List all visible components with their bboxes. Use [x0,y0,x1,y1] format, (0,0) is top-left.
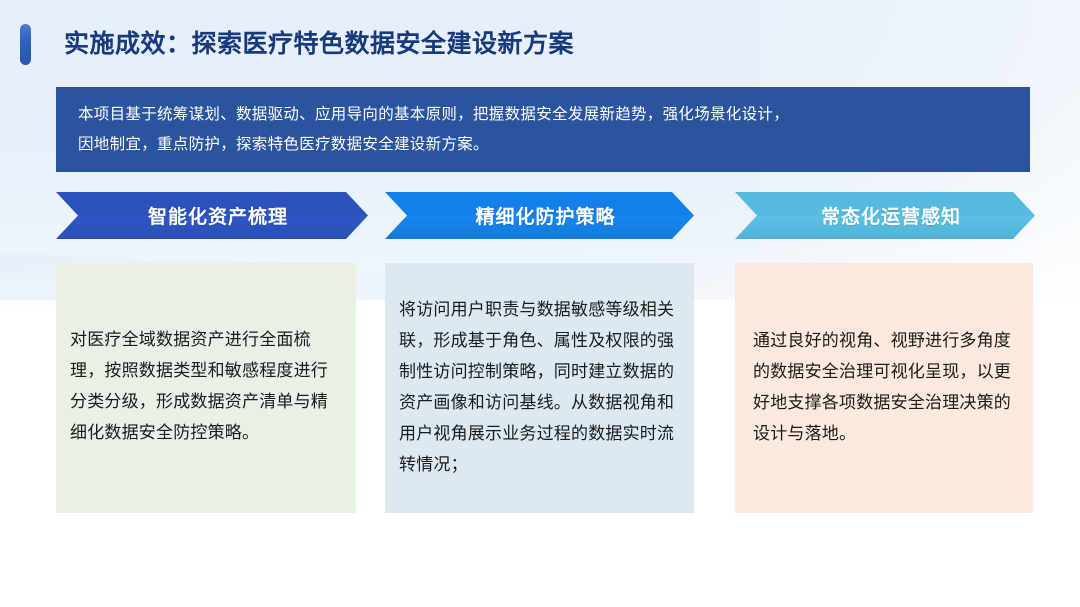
intro-banner-line-1: 本项目基于统筹谋划、数据驱动、应用导向的基本原则，把握数据安全发展新趋势，强化场… [78,100,1008,130]
pillar-chevron-asset-inventory[interactable]: 智能化资产梳理 [56,192,368,239]
pillar-chevron-label: 常态化运营感知 [821,202,961,229]
pillar-card-asset-inventory: 对医疗全域数据资产进行全面梳理，按照数据类型和敏感程度进行分类分级，形成数据资产… [56,263,356,513]
pillar-chevron-label: 智能化资产梳理 [148,202,288,229]
pillar-card-protection-strategy: 将访问用户职责与数据敏感等级相关联，形成基于角色、属性及权限的强制性访问控制策略… [385,263,694,513]
pillar-chevron-operations-awareness[interactable]: 常态化运营感知 [735,192,1035,239]
pillar-card-body: 通过良好的视角、视野进行多角度的数据安全治理可视化呈现，以更好地支撑各项数据安全… [753,325,1015,449]
pillar-card-body: 对医疗全域数据资产进行全面梳理，按照数据类型和敏感程度进行分类分级，形成数据资产… [70,324,342,448]
slide-header: 实施成效：探索医疗特色数据安全建设新方案 [0,10,1080,66]
intro-banner: 本项目基于统筹谋划、数据驱动、应用导向的基本原则，把握数据安全发展新趋势，强化场… [56,87,1030,172]
title-accent-bar [20,24,31,65]
pillar-card-body: 将访问用户职责与数据敏感等级相关联，形成基于角色、属性及权限的强制性访问控制策略… [399,294,680,480]
slide-canvas: 实施成效：探索医疗特色数据安全建设新方案 本项目基于统筹谋划、数据驱动、应用导向… [0,0,1080,607]
intro-banner-line-2: 因地制宜，重点防护，探索特色医疗数据安全建设新方案。 [78,130,1008,160]
pillar-card-operations-awareness: 通过良好的视角、视野进行多角度的数据安全治理可视化呈现，以更好地支撑各项数据安全… [735,263,1033,513]
pillar-chevron-protection-strategy[interactable]: 精细化防护策略 [385,192,694,239]
page-title: 实施成效：探索医疗特色数据安全建设新方案 [64,24,574,64]
pillar-chevron-label: 精细化防护策略 [475,202,615,229]
